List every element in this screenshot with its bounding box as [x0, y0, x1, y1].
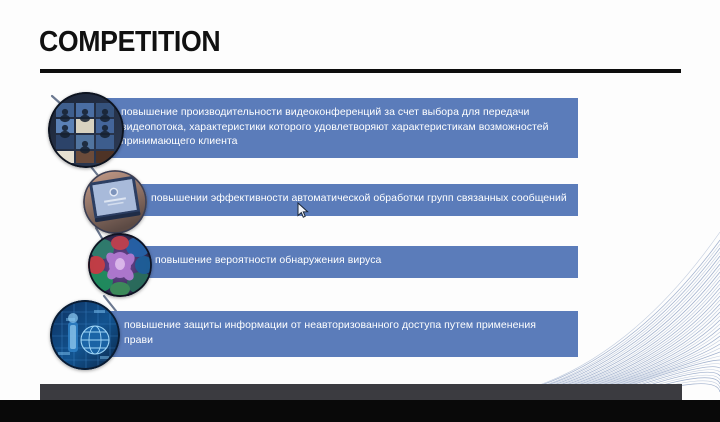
item-text-bar[interactable]: повышении эффективности автоматической о…: [133, 184, 578, 216]
item-text-bar[interactable]: повышение производительности видеоконфер…: [103, 98, 578, 158]
item-text-bar[interactable]: повышение вероятности обнаружения вируса: [137, 246, 578, 278]
title-underline: [40, 69, 681, 73]
footer-gray-bar: [40, 384, 682, 401]
bottom-black-band: [0, 400, 720, 422]
laptop-device-image: [83, 170, 147, 234]
radial-line-fan-decoration: [460, 200, 720, 400]
mouse-cursor: [297, 202, 309, 219]
page-title: COMPETITION: [39, 26, 220, 59]
presentation-slide: COMPETITION: [0, 0, 720, 400]
virus-microscopy-image: [88, 233, 152, 297]
videoconference-grid-image: [48, 92, 124, 168]
network-security-globe-image: [50, 300, 120, 370]
item-text-bar[interactable]: повышение защиты информации от неавториз…: [106, 311, 578, 357]
